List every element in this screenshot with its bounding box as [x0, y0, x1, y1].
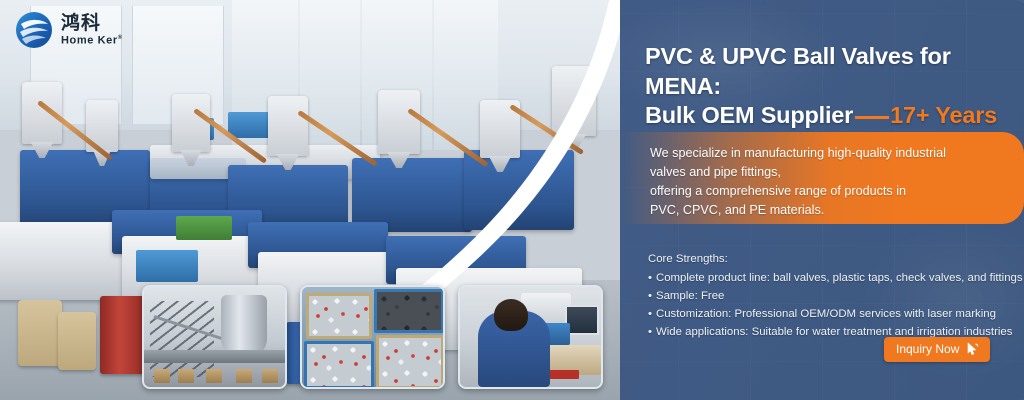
list-item: Complete product line: ball valves, plas… — [648, 269, 1008, 287]
core-strengths-list: Complete product line: ball valves, plas… — [648, 269, 1008, 341]
thumbnail-laser-marking-worker[interactable] — [458, 285, 603, 389]
inquiry-now-button[interactable]: Inquiry Now — [884, 337, 990, 362]
list-item: Sample: Free — [648, 287, 1008, 305]
headline-line-2: Bulk OEM Supplier17+ Years — [645, 101, 1017, 131]
headline-dash-icon — [855, 116, 889, 119]
globe-wave-logo-icon — [14, 10, 54, 50]
brand-logo[interactable]: 鸿科 Home Ker® — [14, 10, 123, 50]
headline-accent: 17+ Years — [890, 102, 997, 128]
cursor-click-icon — [966, 342, 979, 356]
thumbnail-strip — [142, 285, 603, 389]
description-line-3: offering a comprehensive range of produc… — [650, 182, 980, 201]
promo-banner: 鸿科 Home Ker® PVC & UPVC Ball Valves for … — [0, 0, 1024, 400]
description-line-1: We specialize in manufacturing high-qual… — [650, 144, 980, 163]
description-text: We specialize in manufacturing high-qual… — [650, 144, 980, 221]
headline-line-2-prefix: Bulk OEM Supplier — [645, 102, 853, 128]
brand-name-cn: 鸿科 — [61, 14, 123, 33]
core-strengths-title: Core Strengths: — [648, 250, 1008, 268]
description-line-4: PVC, CPVC, and PE materials. — [650, 201, 980, 220]
list-item: Customization: Professional OEM/ODM serv… — [648, 305, 1008, 323]
thumbnail-factory-mixing-room[interactable] — [142, 285, 287, 389]
headline: PVC & UPVC Ball Valves for MENA: Bulk OE… — [645, 42, 1017, 131]
core-strengths: Core Strengths: Complete product line: b… — [648, 250, 1008, 341]
brand-name-en: Home Ker® — [61, 35, 123, 47]
headline-line-1: PVC & UPVC Ball Valves for MENA: — [645, 43, 951, 99]
description-line-2: valves and pipe fittings, — [650, 163, 980, 182]
inquiry-now-label: Inquiry Now — [896, 342, 959, 356]
thumbnail-pvc-fittings-crates[interactable] — [300, 285, 445, 389]
